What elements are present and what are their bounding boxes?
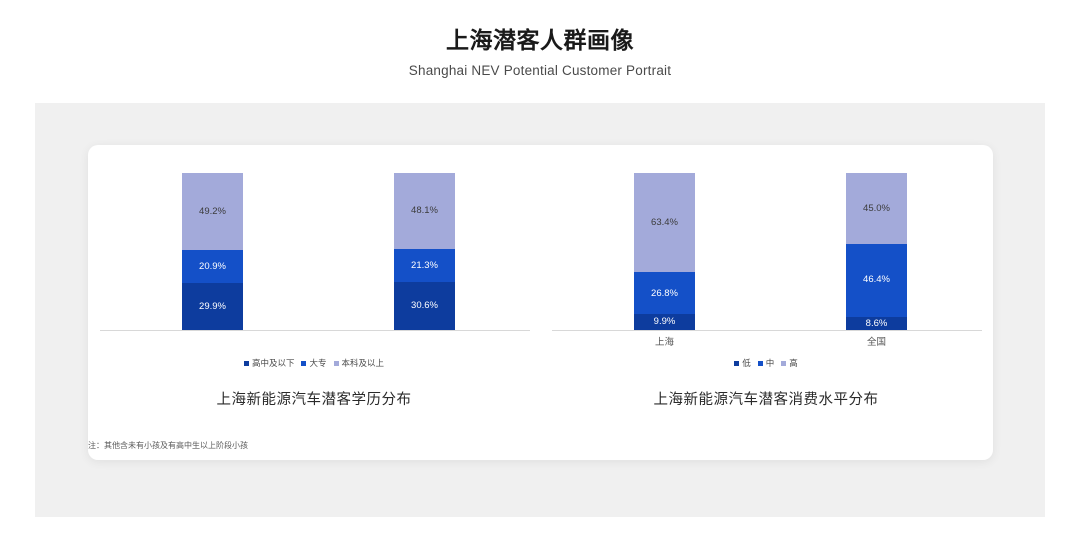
legend-item[interactable]: 大专 bbox=[301, 357, 326, 369]
category-labels bbox=[100, 334, 530, 350]
bar-segment[interactable]: 8.6% bbox=[846, 317, 907, 331]
stacked-bar[interactable]: 49.2%20.9%29.9% bbox=[182, 173, 243, 330]
footnote: 注：其他含未有小孩及有高中生以上阶段小孩 bbox=[88, 440, 248, 451]
bar-segment-label: 48.1% bbox=[411, 206, 438, 216]
axis-line bbox=[552, 330, 982, 331]
bar-segment[interactable]: 48.1% bbox=[394, 173, 455, 249]
legend-item[interactable]: 高 bbox=[781, 357, 798, 369]
chart-legend: 低中高 bbox=[540, 357, 992, 369]
page-subtitle: Shanghai NEV Potential Customer Portrait bbox=[0, 55, 1080, 78]
legend-item[interactable]: 本科及以上 bbox=[334, 357, 385, 369]
charts-card: 49.2%20.9%29.9% 48.1%21.3%30.6% 高中及以下大专本… bbox=[88, 145, 993, 460]
category-labels: 上海 全国 bbox=[552, 334, 982, 350]
axis-line bbox=[100, 330, 530, 331]
bar-segment-label: 20.9% bbox=[199, 262, 226, 272]
bar-segment-label: 26.8% bbox=[651, 289, 678, 299]
legend-label: 低 bbox=[742, 357, 751, 369]
bar-segment[interactable]: 21.3% bbox=[394, 249, 455, 282]
chart-consumption-level-distribution: 63.4%26.8%9.9% 45.0%46.4%8.6% 上海 全国 低中高 … bbox=[540, 145, 992, 460]
slide-panel: 49.2%20.9%29.9% 48.1%21.3%30.6% 高中及以下大专本… bbox=[35, 103, 1045, 517]
bar-segment-label: 30.6% bbox=[411, 301, 438, 311]
bar-segment[interactable]: 29.9% bbox=[182, 283, 243, 330]
bar-segment-label: 63.4% bbox=[651, 218, 678, 228]
bar-segment[interactable]: 26.8% bbox=[634, 272, 695, 314]
bar-segment-label: 21.3% bbox=[411, 261, 438, 271]
chart-caption: 上海新能源汽车潜客学历分布 bbox=[88, 388, 540, 409]
category-label: 上海 bbox=[634, 334, 695, 348]
legend-swatch-icon bbox=[781, 361, 786, 366]
chart-caption: 上海新能源汽车潜客消费水平分布 bbox=[540, 388, 992, 409]
bar-segment[interactable]: 9.9% bbox=[634, 314, 695, 330]
bar-segment-label: 8.6% bbox=[866, 319, 888, 329]
bar-segment-label: 49.2% bbox=[199, 207, 226, 217]
chart-plot-area: 49.2%20.9%29.9% 48.1%21.3%30.6% bbox=[100, 173, 530, 330]
chart-education-distribution: 49.2%20.9%29.9% 48.1%21.3%30.6% 高中及以下大专本… bbox=[88, 145, 540, 460]
page-header: 上海潜客人群画像 Shanghai NEV Potential Customer… bbox=[0, 0, 1080, 78]
stacked-bar[interactable]: 48.1%21.3%30.6% bbox=[394, 173, 455, 330]
bar-segment[interactable]: 46.4% bbox=[846, 244, 907, 317]
bar-segment-label: 29.9% bbox=[199, 302, 226, 312]
bar-segment[interactable]: 20.9% bbox=[182, 250, 243, 283]
stacked-bar[interactable]: 63.4%26.8%9.9% bbox=[634, 173, 695, 330]
legend-swatch-icon bbox=[334, 361, 339, 366]
page-title: 上海潜客人群画像 bbox=[0, 0, 1080, 55]
category-label: 全国 bbox=[846, 334, 907, 348]
bar-segment[interactable]: 30.6% bbox=[394, 282, 455, 330]
bar-segment[interactable]: 63.4% bbox=[634, 173, 695, 272]
legend-swatch-icon bbox=[734, 361, 739, 366]
chart-legend: 高中及以下大专本科及以上 bbox=[88, 357, 540, 369]
legend-item[interactable]: 中 bbox=[758, 357, 775, 369]
bar-segment-label: 46.4% bbox=[863, 275, 890, 285]
legend-label: 中 bbox=[766, 357, 775, 369]
charts-row: 49.2%20.9%29.9% 48.1%21.3%30.6% 高中及以下大专本… bbox=[88, 145, 993, 460]
legend-label: 高中及以下 bbox=[252, 357, 295, 369]
legend-item[interactable]: 高中及以下 bbox=[244, 357, 295, 369]
legend-label: 本科及以上 bbox=[342, 357, 385, 369]
legend-swatch-icon bbox=[244, 361, 249, 366]
bar-segment-label: 45.0% bbox=[863, 204, 890, 214]
bar-segment[interactable]: 49.2% bbox=[182, 173, 243, 250]
legend-swatch-icon bbox=[758, 361, 763, 366]
legend-item[interactable]: 低 bbox=[734, 357, 751, 369]
legend-swatch-icon bbox=[301, 361, 306, 366]
legend-label: 高 bbox=[789, 357, 798, 369]
bar-segment-label: 9.9% bbox=[654, 317, 676, 327]
bar-segment[interactable]: 45.0% bbox=[846, 173, 907, 244]
chart-plot-area: 63.4%26.8%9.9% 45.0%46.4%8.6% bbox=[552, 173, 982, 330]
stacked-bar[interactable]: 45.0%46.4%8.6% bbox=[846, 173, 907, 330]
legend-label: 大专 bbox=[309, 357, 326, 369]
